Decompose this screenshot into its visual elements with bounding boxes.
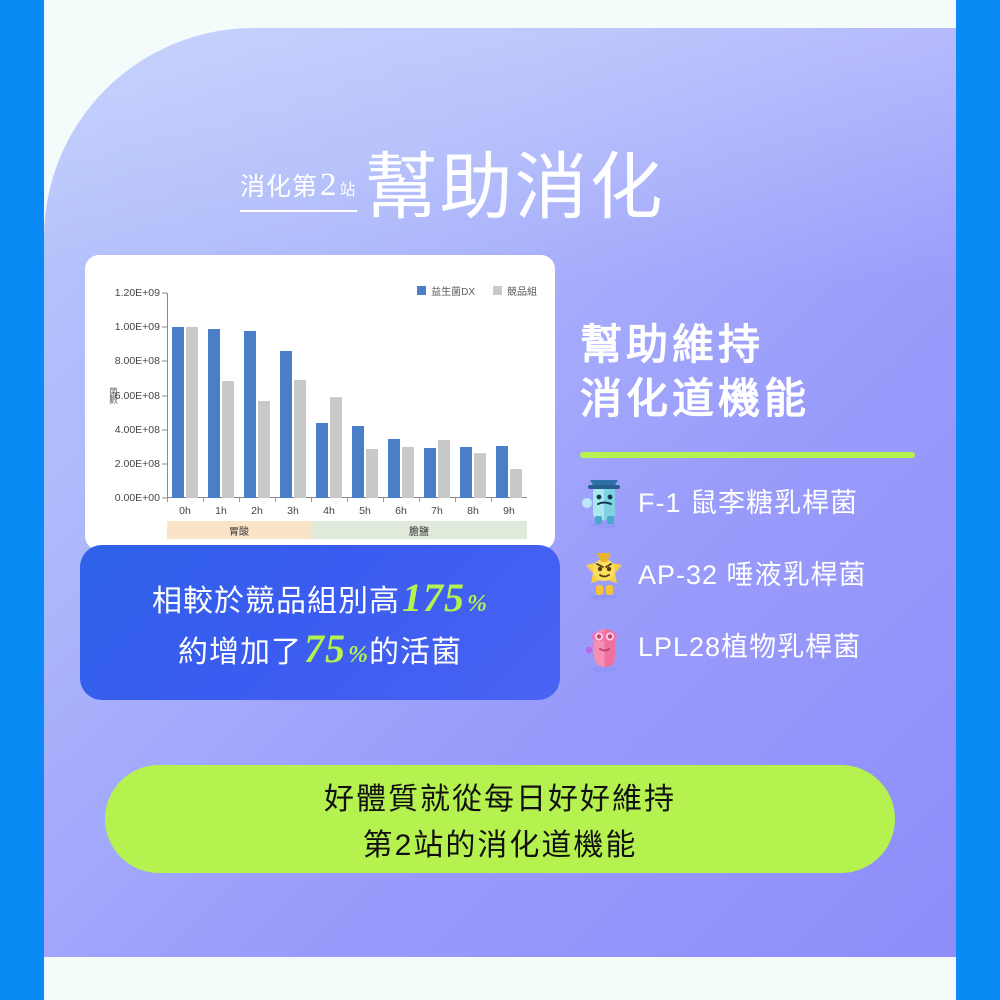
bar-chart: 益生菌DX 競品組 菌數 1.20E+091.00E+098.00E+086.0… [85, 255, 555, 550]
stats-card: 相較於競品組別高175% 約增加了75%的活菌 [80, 545, 560, 700]
page-title: 幫助消化 [365, 151, 665, 224]
chart-bar [474, 453, 486, 498]
chart-card: 益生菌DX 競品組 菌數 1.20E+091.00E+098.00E+086.0… [85, 255, 555, 550]
x-axis-tick-mark [239, 498, 240, 502]
page-header: 消化第2站 幫助消化 [240, 120, 780, 220]
x-axis-tick-label: 7h [419, 505, 455, 517]
bar-group [203, 293, 239, 498]
bar-group [167, 293, 203, 498]
x-axis-tick-label: 4h [311, 505, 347, 517]
y-axis-tick: 1.00E+09 [115, 321, 167, 333]
x-axis-tick-mark [347, 498, 348, 502]
right-column: 幫助維持 消化道機能 F-1 鼠李糖乳桿菌 [580, 318, 925, 674]
stat1-value: 175 [400, 574, 467, 621]
strain-name: LPL28植物乳桿菌 [638, 625, 861, 664]
y-axis-tick-mark [162, 429, 167, 430]
chart-bar [402, 447, 414, 498]
banner-line-1: 好體質就從每日好好維持 [324, 774, 676, 818]
bar-group [455, 293, 491, 498]
bar-group [491, 293, 527, 498]
x-axis-tick-label: 3h [275, 505, 311, 517]
kicker-post: 站 [340, 182, 357, 199]
chart-plot-area: 1.20E+091.00E+098.00E+086.00E+084.00E+08… [167, 293, 527, 498]
x-axis-tick-label: 5h [347, 505, 383, 517]
y-axis-tick-mark [162, 293, 167, 294]
chart-bar [222, 381, 234, 498]
strain-item: LPL28植物乳桿菌 [580, 616, 925, 674]
bar-groups [167, 293, 527, 498]
x-axis-tick-mark [203, 498, 204, 502]
bar-group [383, 293, 419, 498]
stat2-prefix: 約增加了 [178, 627, 302, 671]
y-axis-tick: 4.00E+08 [115, 424, 167, 436]
chart-bar [186, 327, 198, 498]
kicker-number: 2 [318, 167, 340, 203]
stat1-unit: % [467, 591, 488, 618]
y-axis-tick: 8.00E+08 [115, 355, 167, 367]
x-axis-tick-mark [311, 498, 312, 502]
chart-bar [510, 469, 522, 498]
chart-bar [316, 423, 328, 498]
mascot-yellow-icon [580, 545, 628, 601]
stat2-suffix: 的活菌 [369, 627, 462, 671]
x-axis-tick-labels: 0h1h2h3h4h5h6h7h8h9h [167, 505, 527, 517]
mascot-blue-icon [580, 473, 628, 529]
chart-bar [258, 401, 270, 498]
kicker-pre: 消化第 [240, 174, 318, 201]
y-axis-tick: 6.00E+08 [115, 390, 167, 402]
chart-bar [424, 448, 436, 498]
chart-bar [460, 447, 472, 498]
chart-bar [388, 439, 400, 498]
x-axis-tick-mark [419, 498, 420, 502]
x-axis-tick-label: 0h [167, 505, 203, 517]
benefit-heading-line1: 幫助維持 [580, 318, 925, 372]
page-root: 消化第2站 幫助消化 益生菌DX 競品組 菌數 [0, 0, 1000, 1000]
green-divider [580, 452, 915, 458]
mascot-pink-icon [580, 617, 628, 673]
chart-bar [352, 426, 364, 498]
stat2-value: 75 [302, 625, 348, 672]
x-axis-tick-mark [491, 498, 492, 502]
chart-bar [208, 329, 220, 498]
y-axis-tick-mark [162, 395, 167, 396]
bar-group [419, 293, 455, 498]
chart-bar [172, 327, 184, 498]
phase-bands: 胃酸膽鹽 [167, 521, 527, 539]
y-axis-tick-mark [162, 463, 167, 464]
phase-band: 膽鹽 [311, 521, 527, 539]
strain-item: AP-32 唾液乳桿菌 [580, 544, 925, 602]
x-axis-tick-label: 9h [491, 505, 527, 517]
x-axis-tick-mark [167, 498, 168, 502]
x-axis-tick-mark [455, 498, 456, 502]
left-blue-rail [0, 0, 44, 1000]
chart-bar [280, 351, 292, 498]
strain-item: F-1 鼠李糖乳桿菌 [580, 472, 925, 530]
chart-bar [294, 380, 306, 498]
chart-bar [366, 449, 378, 498]
y-axis-tick-mark [162, 498, 167, 499]
x-axis-tick-mark [275, 498, 276, 502]
stat1-prefix: 相較於競品組別高 [152, 576, 400, 620]
section-kicker-text: 消化第2站 [240, 167, 357, 204]
kicker-underline [240, 210, 357, 212]
chart-bar [438, 440, 450, 498]
phase-band: 胃酸 [167, 521, 311, 539]
section-kicker: 消化第2站 [240, 167, 357, 220]
y-axis-tick: 0.00E+00 [115, 492, 167, 504]
bar-group [239, 293, 275, 498]
bottom-banner: 好體質就從每日好好維持 第2站的消化道機能 [105, 765, 895, 873]
x-axis-tick-label: 1h [203, 505, 239, 517]
strain-name: F-1 鼠李糖乳桿菌 [638, 481, 858, 520]
x-axis-tick-mark [383, 498, 384, 502]
y-axis-tick: 1.20E+09 [115, 287, 167, 299]
benefit-heading-line2: 消化道機能 [580, 372, 925, 426]
chart-bar [330, 397, 342, 498]
bar-group [275, 293, 311, 498]
y-axis-tick-mark [162, 361, 167, 362]
chart-bar [496, 446, 508, 498]
x-axis-tick-label: 8h [455, 505, 491, 517]
y-axis-tick-mark [162, 327, 167, 328]
stat-line-1: 相較於競品組別高175% [152, 574, 488, 621]
x-axis-tick-label: 6h [383, 505, 419, 517]
stat2-unit: % [348, 642, 369, 669]
y-axis-tick: 2.00E+08 [115, 458, 167, 470]
benefit-heading: 幫助維持 消化道機能 [580, 318, 925, 426]
bar-group [347, 293, 383, 498]
strain-name: AP-32 唾液乳桿菌 [638, 553, 867, 592]
right-blue-rail [956, 0, 1000, 1000]
stat-line-2: 約增加了75%的活菌 [178, 625, 462, 672]
x-axis-tick-label: 2h [239, 505, 275, 517]
bar-group [311, 293, 347, 498]
banner-line-2: 第2站的消化道機能 [363, 820, 638, 864]
chart-bar [244, 331, 256, 498]
